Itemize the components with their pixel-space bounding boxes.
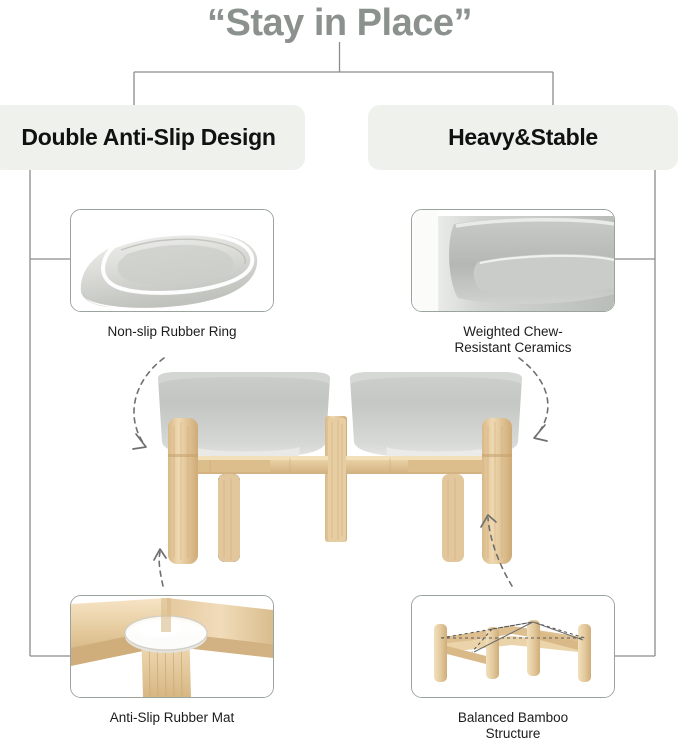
arrow-top-right-path bbox=[519, 358, 548, 436]
arrow-top-left-path bbox=[134, 358, 164, 444]
infographic-canvas: “Stay in Place” Double Anti-Slip Design … bbox=[0, 0, 679, 742]
arrow-top-right-head bbox=[534, 425, 547, 441]
callout-arrows bbox=[0, 0, 679, 742]
arrow-bottom-right-path bbox=[488, 518, 512, 586]
arrow-bottom-left-path bbox=[159, 552, 163, 586]
arrow-top-left-head bbox=[133, 434, 146, 449]
